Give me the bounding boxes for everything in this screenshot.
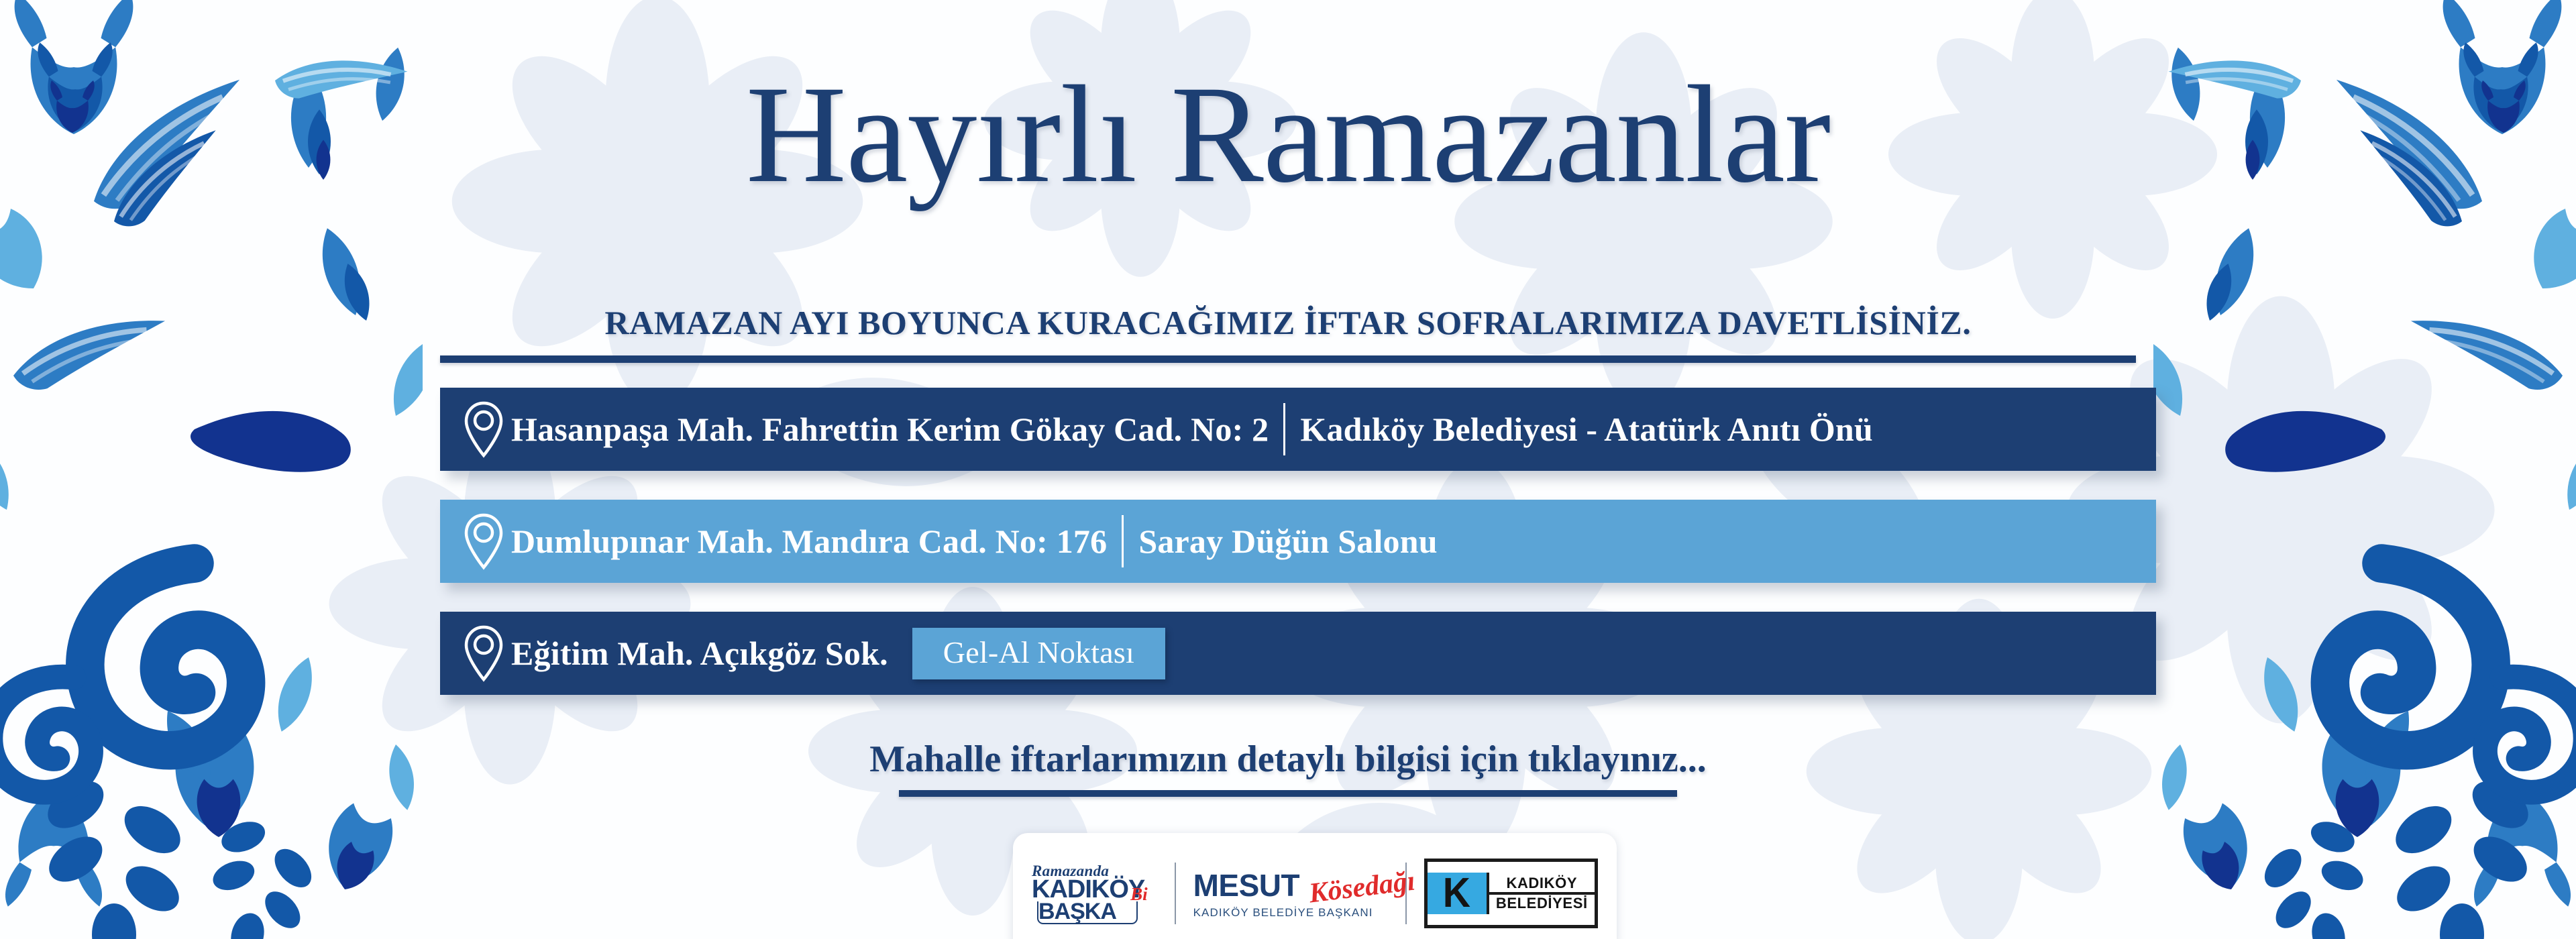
location-address-2: Dumlupınar Mah. Mandıra Cad. No: 176 <box>511 522 1107 561</box>
right-floral-border <box>2153 0 2576 939</box>
banner-content: Hayırlı Ramazanlar RAMAZAN AYI BOYUNCA K… <box>429 0 2147 939</box>
logo-divider-1 <box>1175 863 1176 924</box>
location-text-1: Hasanpaşa Mah. Fahrettin Kerim Gökay Cad… <box>511 403 1873 455</box>
page-title: Hayırlı Ramazanlar <box>429 64 2147 204</box>
logo-ramazanda-accent: Bi <box>1130 886 1148 903</box>
mayor-title: KADIKÖY BELEDİYE BAŞKANI <box>1193 906 1373 920</box>
cta-block: Mahalle iftarlarımızın detaylı bilgisi i… <box>429 738 2147 781</box>
logo-mayor: MESUT Kösedağı KADIKÖY BELEDİYE BAŞKANI <box>1193 867 1388 920</box>
mayor-last-name: Kösedağı <box>1307 865 1417 910</box>
location-address-1: Hasanpaşa Mah. Fahrettin Kerim Gökay Cad… <box>511 410 1269 449</box>
logo-strip: Ramazanda KADIKÖY BAŞKA Bi MESUT Kösedağ… <box>1013 833 1617 939</box>
left-floral-border <box>0 0 423 939</box>
cta-divider <box>899 790 1677 797</box>
location-separator-2 <box>1122 515 1124 567</box>
location-row-1[interactable]: Hasanpaşa Mah. Fahrettin Kerim Gökay Cad… <box>440 388 2156 471</box>
subtitle-divider <box>440 355 2136 363</box>
pickup-point-badge[interactable]: Gel-Al Noktası <box>912 628 1165 679</box>
map-pin-icon <box>463 512 504 570</box>
mayor-first-name: MESUT <box>1193 867 1300 903</box>
location-text-3: Eğitim Mah. Açıkgöz Sok. Gel-Al Noktası <box>511 628 1165 679</box>
location-text-2: Dumlupınar Mah. Mandıra Cad. No: 176 Sar… <box>511 515 1438 567</box>
location-address-3: Eğitim Mah. Açıkgöz Sok. <box>511 634 888 673</box>
logo-municipality: K KADIKÖY BELEDİYESİ <box>1424 859 1598 928</box>
municipality-line1: KADIKÖY <box>1489 875 1595 895</box>
location-row-3[interactable]: Eğitim Mah. Açıkgöz Sok. Gel-Al Noktası <box>440 612 2156 695</box>
location-row-2[interactable]: Dumlupınar Mah. Mandıra Cad. No: 176 Sar… <box>440 500 2156 583</box>
municipality-line2: BELEDİYESİ <box>1489 895 1595 912</box>
municipality-k-glyph: K <box>1443 873 1470 914</box>
logo-ramazanda-kadikoy: Ramazanda KADIKÖY BAŞKA Bi <box>1032 864 1157 922</box>
cta-link[interactable]: Mahalle iftarlarımızın detaylı bilgisi i… <box>869 738 1707 781</box>
ramadan-banner: Hayırlı Ramazanlar RAMAZAN AYI BOYUNCA K… <box>0 0 2576 939</box>
logo-ramazanda-bracket <box>1037 901 1138 924</box>
subtitle-text: RAMAZAN AYI BOYUNCA KURACAĞIMIZ İFTAR SO… <box>605 303 1972 342</box>
location-venue-2: Saray Düğün Salonu <box>1138 522 1437 561</box>
municipality-k-mark: K <box>1428 873 1489 914</box>
municipality-wordmark: KADIKÖY BELEDİYESİ <box>1489 875 1595 912</box>
map-pin-icon <box>463 400 504 458</box>
logo-ramazanda-line2: KADIKÖY <box>1032 878 1144 901</box>
location-venue-1: Kadıköy Belediyesi - Atatürk Anıtı Önü <box>1300 410 1873 449</box>
subtitle-block: RAMAZAN AYI BOYUNCA KURACAĞIMIZ İFTAR SO… <box>429 303 2147 342</box>
map-pin-icon <box>463 624 504 682</box>
location-list: Hasanpaşa Mah. Fahrettin Kerim Gökay Cad… <box>440 388 2156 724</box>
location-separator-1 <box>1283 403 1285 455</box>
